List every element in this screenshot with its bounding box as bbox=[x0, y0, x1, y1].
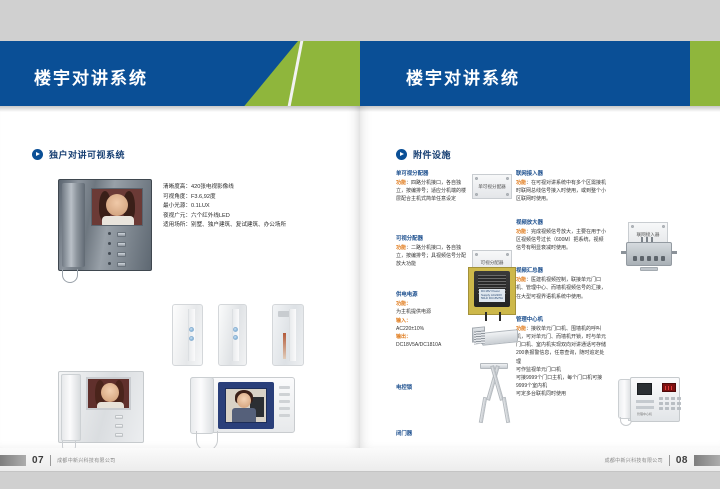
screen-image-face bbox=[106, 194, 128, 216]
device-door-closer bbox=[468, 363, 520, 423]
monitor-buttons bbox=[279, 386, 290, 421]
lock-teeth bbox=[474, 330, 485, 344]
panel-strip bbox=[188, 309, 195, 361]
entry-label-function: 功能： bbox=[396, 301, 411, 307]
accessory-entry: 单可视分配器 功能：四路分机接口，各自独立，按编排号；适应分机端的楼层配合主机式… bbox=[396, 169, 470, 204]
mgmt-brand-label: 管理中心机 bbox=[637, 412, 652, 416]
screen-image-body bbox=[232, 408, 256, 423]
accessory-entry-door-closer: 闭门器 bbox=[396, 429, 470, 437]
door-station-white-1 bbox=[172, 304, 203, 366]
entry-text: ：接收单元门口机、围墙机的呼叫机，可对单元门、而墙机开锁，时与单元门口机、室内机… bbox=[516, 326, 606, 365]
indicator-leds bbox=[108, 232, 111, 272]
video-intercom-monitor-dark bbox=[58, 179, 152, 271]
door-station-panel-3 bbox=[272, 304, 304, 366]
device-video-amplifier bbox=[626, 237, 672, 271]
entry-label-output: 输出： bbox=[396, 334, 411, 340]
entry-text: ：四路分机接口，各自独立，按编排号；适应分机端的楼层配合主机式简单任意设定 bbox=[396, 180, 466, 202]
call-button bbox=[233, 335, 238, 340]
device-label: 可视分配器 bbox=[481, 260, 504, 266]
entry-label: 功能 bbox=[516, 277, 526, 283]
accessory-column-a: 单可视分配器 功能：四路分机接口，各自独立，按编排号；适应分机端的楼层配合主机式… bbox=[396, 169, 470, 442]
entry-title: 联网接入器 bbox=[516, 169, 608, 177]
accessory-entry: 视频放大器 功能：完成视频信号放大，主要在用于小区视频信号过长（600M）把系统… bbox=[516, 218, 608, 253]
handset-cord bbox=[62, 269, 78, 283]
play-bullet-icon bbox=[32, 149, 43, 160]
spec-line: 可视角度：F3.6,92度 bbox=[163, 193, 343, 203]
entry-extra-line: 可定多台联机同时使用 bbox=[516, 390, 608, 398]
entry-label: 功能 bbox=[516, 180, 526, 186]
entry-label: 功能 bbox=[396, 245, 406, 251]
handset-cord bbox=[196, 431, 218, 448]
entry-output-text: DC18V5A/DC1810A bbox=[396, 341, 470, 349]
right-company-name: 成都中新兴科技有限公司 bbox=[599, 457, 669, 464]
left-page: 楼宇对讲系统 独户对讲可视系统 清晰度高：420张电视影像线 可视角度：F3.6… bbox=[0, 41, 360, 448]
amp-shell bbox=[626, 242, 672, 266]
spec-line: 夜视广元：六个红外线LED bbox=[163, 212, 343, 222]
entry-text: ：在可视对讲系统中有多个区需接机时联网总线信号接入时使用，或到整个小区联网时使用… bbox=[516, 180, 606, 202]
entry-extra-line: 可接9999个门口主机，每个门口机可接9999个室内机 bbox=[516, 374, 608, 390]
psu-rating-label: DC18V Power Supply AC220V 50Hz DC18V/5A bbox=[479, 289, 505, 302]
entry-body: 功能： 为主机提供电源 输入： AC220±10% 输出： DC18V5A/DC… bbox=[396, 300, 470, 349]
accessory-column-b: 联网接入器 功能：在可视对讲系统中有多个区需接机时联网总线信号接入时使用，或到整… bbox=[516, 169, 608, 404]
device-single-video-distributor: 单可视分配器 bbox=[472, 174, 512, 199]
call-button bbox=[189, 336, 194, 341]
device-management-center-machine: 管理中心机 bbox=[618, 377, 680, 422]
handset-cord bbox=[62, 441, 76, 448]
left-page-title: 楼宇对讲系统 bbox=[34, 64, 148, 89]
footer-tab-shape bbox=[694, 455, 720, 466]
accessory-entry-power-supply: 供电电源 功能： 为主机提供电源 输入： AC220±10% 输出： DC18V… bbox=[396, 290, 470, 349]
entry-title: 视频汇总器 bbox=[516, 266, 608, 274]
panel-slot bbox=[283, 333, 286, 359]
entry-title: 供电电源 bbox=[396, 290, 470, 298]
footer: 07 成都中新兴科技有限公司 成都中新兴科技有限公司 08 bbox=[0, 448, 720, 489]
entry-text: ：医建机视频控制，联接单元门口机、管理中心、而墙机视频信号的汇接，在大型可视界语… bbox=[516, 277, 606, 299]
door-station-white-2 bbox=[218, 304, 247, 366]
brochure-spread: 楼宇对讲系统 独户对讲可视系统 清晰度高：420张电视影像线 可视角度：F3.6… bbox=[0, 41, 720, 448]
amp-side-connector bbox=[621, 251, 626, 254]
entry-title: 可视分配器 bbox=[396, 234, 470, 242]
left-header-band: 楼宇对讲系统 bbox=[0, 41, 360, 106]
screen-image-body bbox=[97, 402, 124, 410]
monitor-screen bbox=[91, 188, 143, 226]
amp-side-connector bbox=[672, 251, 677, 254]
mgmt-body: 管理中心机 bbox=[630, 377, 680, 422]
mgmt-led-display bbox=[662, 383, 676, 392]
video-intercom-monitor-blue bbox=[190, 377, 295, 433]
left-section-label: 独户对讲可视系统 bbox=[49, 148, 125, 161]
right-header-band: 楼宇对讲系统 bbox=[360, 41, 720, 106]
screen-image-face bbox=[237, 393, 251, 408]
closer-leg bbox=[479, 397, 487, 423]
footer-tab-shape bbox=[0, 455, 26, 466]
entry-input-text: AC220±10% bbox=[396, 325, 470, 333]
call-button bbox=[233, 327, 238, 332]
psu-wire bbox=[485, 312, 487, 321]
monitor-screen bbox=[86, 377, 131, 410]
entry-label-input: 输入： bbox=[396, 318, 411, 324]
entry-body: 功能：二路分机接口，各自独立，按编排号；具视频信号分配放大功能 bbox=[396, 244, 470, 269]
mgmt-speaker-grill bbox=[636, 406, 654, 409]
right-page: 楼宇对讲系统 附件设施 单可视分配器 功能：四路分机接口，各自独立，按编排号；适… bbox=[360, 41, 720, 448]
play-bullet-icon bbox=[396, 149, 407, 160]
handset bbox=[190, 377, 214, 434]
amp-ports bbox=[633, 256, 665, 261]
monitor-buttons bbox=[117, 232, 126, 272]
call-button bbox=[189, 327, 194, 332]
entry-text: ：完成视频信号放大，主要在用于小区视频信号过长（600M）把系统，视频信号有明显… bbox=[516, 229, 606, 251]
mgmt-keypad bbox=[659, 397, 681, 410]
entry-body: 功能：完成视频信号放大，主要在用于小区视频信号过长（600M）把系统，视频信号有… bbox=[516, 228, 608, 253]
device-power-supply: DC18V Power Supply AC220V 50Hz DC18V/5A bbox=[468, 267, 516, 315]
accessory-entry-electric-lock: 电控锁 bbox=[396, 383, 470, 391]
mgmt-display bbox=[637, 383, 652, 395]
entry-label: 功能 bbox=[516, 229, 526, 235]
accessory-entry: 视频汇总器 功能：医建机视频控制，联接单元门口机、管理中心、而墙机视频信号的汇接… bbox=[516, 266, 608, 301]
handset bbox=[61, 374, 81, 441]
footer-right: 成都中新兴科技有限公司 08 bbox=[599, 453, 720, 467]
entry-extra-line: 可作监视单元门口机 bbox=[516, 366, 608, 374]
device-label: 单可视分配器 bbox=[478, 184, 506, 190]
entry-body: 功能：四路分机接口，各自独立，按编排号；适应分机端的楼层配合主机式简单任意设定 bbox=[396, 179, 470, 204]
spec-list: 清晰度高：420张电视影像线 可视角度：F3.6,92度 最小光源：0.1LUX… bbox=[163, 183, 343, 231]
amp-foot bbox=[640, 267, 658, 271]
left-section-heading: 独户对讲可视系统 bbox=[32, 148, 125, 161]
monitor-bezel bbox=[218, 382, 274, 429]
monitor-screen bbox=[225, 388, 267, 423]
screen-image-body bbox=[102, 216, 134, 226]
device-electric-lock bbox=[472, 325, 518, 349]
entry-text: ：二路分机接口，各自独立，按编排号；具视频信号分配放大功能 bbox=[396, 245, 466, 267]
left-company-name: 成都中新兴科技有限公司 bbox=[51, 457, 121, 464]
right-page-number: 08 bbox=[670, 455, 694, 466]
right-page-title: 楼宇对讲系统 bbox=[406, 64, 520, 89]
right-section-heading: 附件设施 bbox=[396, 148, 451, 161]
entry-body: 功能：接收单元门口机、围墙机的呼叫机，可对单元门、而墙机开锁，时与单元门口机、室… bbox=[516, 325, 608, 366]
monitor-buttons bbox=[115, 415, 123, 442]
lock-body bbox=[482, 329, 518, 346]
entry-function-text: 为主机提供电源 bbox=[396, 308, 470, 316]
entry-title: 管理中心机 bbox=[516, 315, 608, 323]
panel-strip bbox=[289, 309, 296, 361]
psu-body: DC18V Power Supply AC220V 50Hz DC18V/5A bbox=[474, 271, 510, 307]
lock-head bbox=[472, 326, 485, 342]
video-intercom-monitor-white bbox=[58, 371, 144, 443]
spec-line: 最小光源：0.1LUX bbox=[163, 202, 343, 212]
mgmt-speaker-grill bbox=[636, 400, 654, 403]
band-shadow bbox=[0, 106, 360, 112]
accessory-entry: 可视分配器 功能：二路分机接口，各自独立，按编排号；具视频信号分配放大功能 bbox=[396, 234, 470, 269]
spec-line: 清晰度高：420张电视影像线 bbox=[163, 183, 343, 193]
entry-title: 单可视分配器 bbox=[396, 169, 470, 177]
left-page-number: 07 bbox=[26, 455, 50, 466]
closer-leg bbox=[502, 397, 510, 423]
spec-line: 适用场所：别墅、独户建筑、复试建筑、办公场所 bbox=[163, 221, 343, 231]
footer-left: 07 成都中新兴科技有限公司 bbox=[0, 453, 121, 467]
entry-title: 视频放大器 bbox=[516, 218, 608, 226]
handset bbox=[62, 183, 85, 267]
psu-wire bbox=[499, 312, 501, 321]
accessory-entry-management-center: 管理中心机 功能：接收单元门口机、围墙机的呼叫机，可对单元门、而墙机开锁，时与单… bbox=[516, 315, 608, 399]
screen-image-face bbox=[101, 383, 119, 402]
accessory-entry: 联网接入器 功能：在可视对讲系统中有多个区需接机时联网总线信号接入时使用，或到整… bbox=[516, 169, 608, 204]
entry-label: 功能 bbox=[396, 180, 406, 186]
entry-body: 功能：在可视对讲系统中有多个区需接机时联网总线信号接入时使用，或到整个小区联网时… bbox=[516, 179, 608, 204]
right-section-label: 附件设施 bbox=[413, 148, 451, 161]
entry-body: 功能：医建机视频控制，联接单元门口机、管理中心、而墙机视频信号的汇接，在大型可视… bbox=[516, 276, 608, 301]
entry-title: 电控锁 bbox=[396, 383, 470, 391]
band-shadow bbox=[360, 106, 720, 112]
entry-title: 闭门器 bbox=[396, 429, 470, 437]
